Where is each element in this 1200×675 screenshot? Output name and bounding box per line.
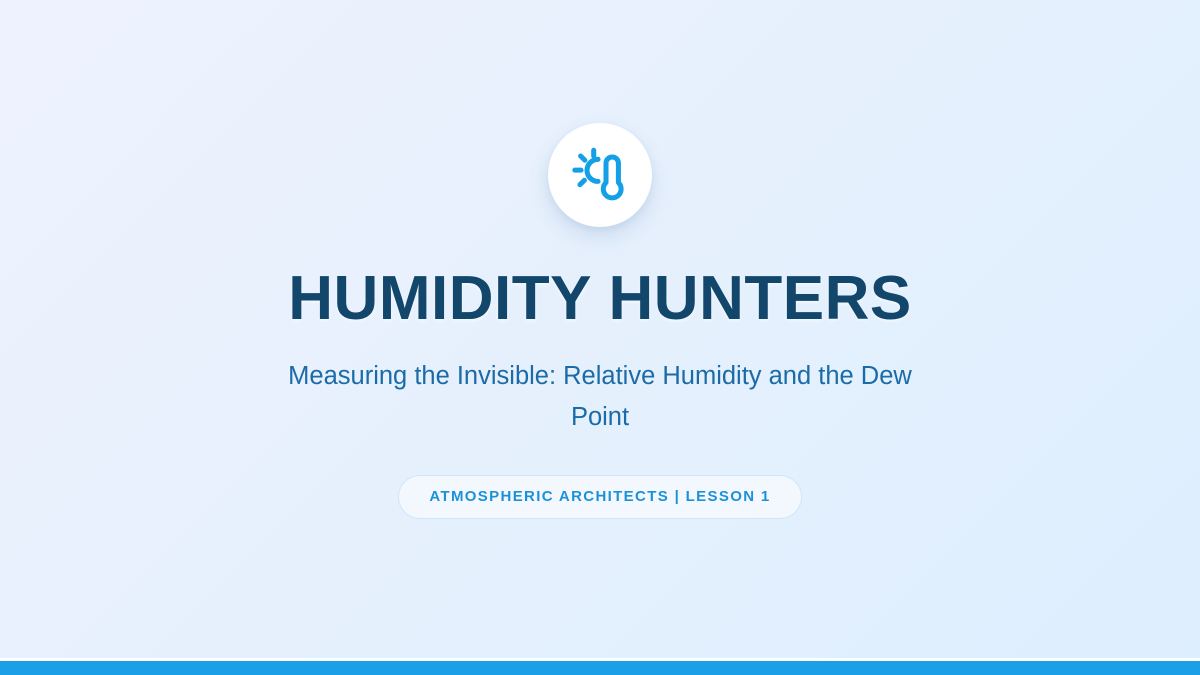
page-title: HUMIDITY HUNTERS [288, 268, 911, 330]
sun-thermometer-icon [569, 144, 631, 206]
lesson-badge: ATMOSPHERIC ARCHITECTS | LESSON 1 [398, 475, 801, 519]
title-slide: HUMIDITY HUNTERS Measuring the Invisible… [0, 0, 1200, 675]
bottom-accent-bar [0, 661, 1200, 675]
icon-badge [548, 123, 652, 227]
page-subtitle: Measuring the Invisible: Relative Humidi… [280, 356, 920, 439]
slide-content: HUMIDITY HUNTERS Measuring the Invisible… [0, 0, 1200, 660]
